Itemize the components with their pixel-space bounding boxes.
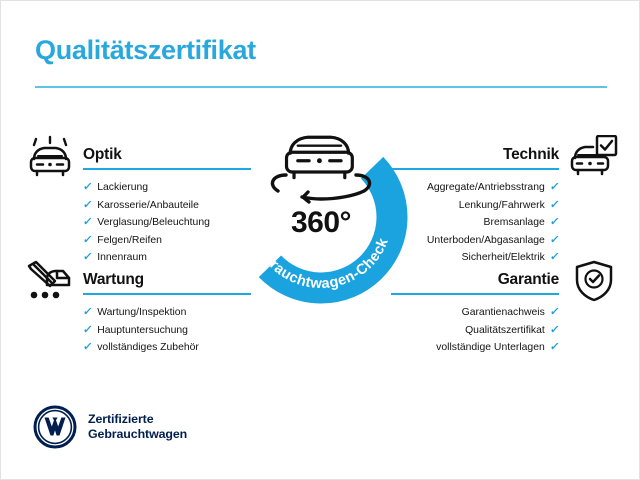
list-item: ✓Hauptuntersuchung xyxy=(83,322,251,340)
list-item-label: Lenkung/Fahrwerk xyxy=(459,200,545,211)
check-icon: ✓ xyxy=(548,249,560,266)
list-item: ✓vollständiges Zubehör xyxy=(83,339,251,357)
check-icon: ✓ xyxy=(82,232,94,249)
section-header: Wartung xyxy=(83,269,251,295)
list-item-label: Felgen/Reifen xyxy=(97,235,162,246)
check-icon: ✓ xyxy=(548,304,560,321)
list-item-label: Hauptuntersuchung xyxy=(97,325,188,336)
list-item: ✓Felgen/Reifen xyxy=(83,232,251,250)
section-header: Garantie xyxy=(391,269,559,295)
section-divider xyxy=(391,168,559,170)
list-item: ✓Verglasung/Beleuchtung xyxy=(83,214,251,232)
section-divider xyxy=(83,168,251,170)
section-title: Garantie xyxy=(498,271,559,289)
section-wartung: Wartung ✓Wartung/Inspektion ✓Hauptunters… xyxy=(83,269,251,357)
car-shine-icon xyxy=(25,135,75,182)
car-service-tools-icon xyxy=(25,260,75,307)
footer-text: Zertifizierte Gebrauchtwagen xyxy=(88,412,187,443)
volkswagen-logo xyxy=(33,405,77,449)
list-item-label: Verglasung/Beleuchtung xyxy=(97,217,210,228)
list-item-label: Aggregate/Antriebsstrang xyxy=(427,182,545,193)
page-title: Qualitätszertifikat xyxy=(35,35,256,66)
checklist-wartung: ✓Wartung/Inspektion ✓Hauptuntersuchung ✓… xyxy=(83,304,251,357)
footer-brand: Zertifizierte Gebrauchtwagen xyxy=(33,405,187,449)
list-item: Bremsanlage✓ xyxy=(391,214,559,232)
certificate-page: Qualitätszertifikat Gebrauchtwagen-Check xyxy=(0,0,640,480)
checklist-optik: ✓Lackierung ✓Karosserie/Anbauteile ✓Verg… xyxy=(83,179,251,267)
list-item-label: Wartung/Inspektion xyxy=(97,307,186,318)
shield-check-icon xyxy=(573,260,615,307)
checklist-technik: Aggregate/Antriebsstrang✓ Lenkung/Fahrwe… xyxy=(391,179,559,267)
section-optik: Optik ✓Lackierung ✓Karosserie/Anbauteile… xyxy=(83,144,251,267)
section-title: Wartung xyxy=(83,271,144,289)
check-icon: ✓ xyxy=(82,322,94,339)
section-technik: Technik Aggregate/Antriebsstrang✓ Lenkun… xyxy=(391,144,559,267)
list-item-label: Bremsanlage xyxy=(484,217,545,228)
list-item: ✓Wartung/Inspektion xyxy=(83,304,251,322)
list-item-label: Innenraum xyxy=(97,252,147,263)
list-item: Sicherheit/Elektrik✓ xyxy=(391,249,559,267)
car-rotate-360-icon xyxy=(287,137,353,177)
check-icon: ✓ xyxy=(82,304,94,321)
check-icon: ✓ xyxy=(548,322,560,339)
check-icon: ✓ xyxy=(548,339,560,356)
check-icon: ✓ xyxy=(82,179,94,196)
list-item: ✓Lackierung xyxy=(83,179,251,197)
list-item: Garantienachweis✓ xyxy=(391,304,559,322)
list-item: Aggregate/Antriebsstrang✓ xyxy=(391,179,559,197)
list-item: ✓Karosserie/Anbauteile xyxy=(83,197,251,215)
360-gebrauchtwagen-check-badge: Gebrauchtwagen-Check 360° xyxy=(226,113,416,311)
list-item-label: vollständiges Zubehör xyxy=(97,342,199,353)
section-divider xyxy=(391,293,559,295)
section-title: Optik xyxy=(83,146,122,164)
list-item-label: Unterboden/Abgasanlage xyxy=(427,235,545,246)
check-icon: ✓ xyxy=(82,249,94,266)
list-item: Unterboden/Abgasanlage✓ xyxy=(391,232,559,250)
list-item-label: Qualitätszertifikat xyxy=(465,325,545,336)
section-divider xyxy=(83,293,251,295)
check-icon: ✓ xyxy=(82,214,94,231)
list-item: Lenkung/Fahrwerk✓ xyxy=(391,197,559,215)
check-icon: ✓ xyxy=(82,339,94,356)
list-item-label: Sicherheit/Elektrik xyxy=(462,252,545,263)
rotation-arrow-icon xyxy=(272,175,369,202)
checklist-garantie: Garantienachweis✓ Qualitätszertifikat✓ v… xyxy=(391,304,559,357)
section-header: Optik xyxy=(83,144,251,170)
check-icon: ✓ xyxy=(548,197,560,214)
check-icon: ✓ xyxy=(548,214,560,231)
list-item-label: Lackierung xyxy=(97,182,148,193)
list-item: Qualitätszertifikat✓ xyxy=(391,322,559,340)
list-item-label: Garantienachweis xyxy=(462,307,545,318)
list-item-label: vollständige Unterlagen xyxy=(436,342,545,353)
check-icon: ✓ xyxy=(548,179,560,196)
list-item: ✓Innenraum xyxy=(83,249,251,267)
check-icon: ✓ xyxy=(548,232,560,249)
badge-value: 360° xyxy=(226,206,416,240)
car-checkbox-icon xyxy=(569,135,619,182)
section-title: Technik xyxy=(503,146,559,164)
list-item-label: Karosserie/Anbauteile xyxy=(97,200,199,211)
list-item: vollständige Unterlagen✓ xyxy=(391,339,559,357)
check-icon: ✓ xyxy=(82,197,94,214)
title-divider xyxy=(35,86,607,88)
section-garantie: Garantie Garantienachweis✓ Qualitätszert… xyxy=(391,269,559,357)
section-header: Technik xyxy=(391,144,559,170)
